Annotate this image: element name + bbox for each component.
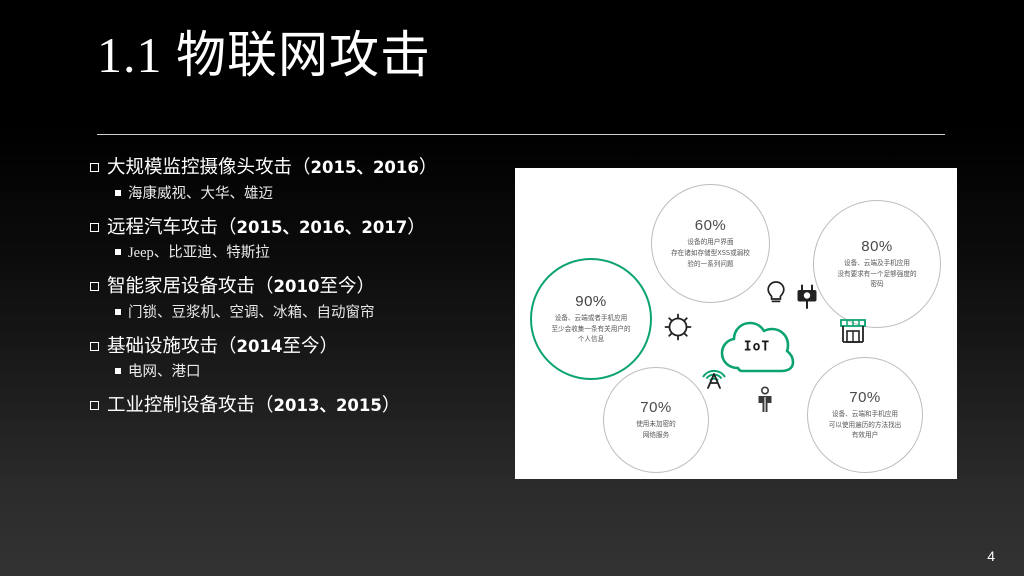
- desc-line: 设备、云端或者手机应用: [551, 313, 630, 324]
- cloud-icon: IoT: [718, 318, 796, 376]
- cloud-label: IoT: [718, 340, 796, 355]
- sub-bullet-item-3-text: 门锁、豆浆机、空调、冰箱、自动窗帘: [128, 303, 500, 325]
- desc-line: 设备、云端及手机应用: [837, 258, 916, 269]
- bullet-item-4-text: 基础设施攻击（2014至今）: [107, 334, 500, 362]
- stat-bubble-60: 60% 设备的用户界面 存在诸如存储型XSS或弱校 验的一系列问题: [651, 184, 770, 303]
- stat-bubble-90-percent: 90%: [575, 293, 607, 310]
- sub-bullet-item-4-text: 电网、港口: [128, 362, 500, 384]
- bullet-item-3: 智能家居设备攻击（2010至今）: [90, 274, 500, 302]
- bullet-item-3-text: 智能家居设备攻击（2010至今）: [107, 274, 500, 302]
- stat-bubble-70-left-description: 使用未加密的 网络服务: [630, 419, 682, 441]
- filled-square-bullet-icon: [115, 360, 128, 382]
- page-title: 1.1 物联网攻击: [97, 26, 431, 85]
- desc-line: 使用未加密的: [636, 419, 676, 430]
- bullet-list: 大规模监控摄像头攻击（2015、2016） 海康威视、大华、雄迈 远程汽车攻击（…: [90, 155, 500, 430]
- desc-line: 验的一系列问题: [671, 259, 750, 270]
- gear-icon: [663, 312, 693, 347]
- desc-line: 有效用户: [829, 430, 902, 441]
- stat-bubble-70-right: 70% 设备、云端和手机应用 可以使用遍历的方法找出 有效用户: [807, 357, 923, 473]
- stat-bubble-60-percent: 60%: [695, 217, 727, 234]
- hollow-square-bullet-icon: [90, 219, 107, 239]
- signal-tower-icon: [700, 363, 728, 394]
- sub-bullet-item-4: 电网、港口: [115, 362, 500, 384]
- sub-bullet-item-1-text: 海康威视、大华、雄迈: [128, 184, 500, 206]
- desc-line: 密码: [837, 279, 916, 290]
- desc-line: 设备的用户界面: [671, 237, 750, 248]
- hollow-square-bullet-icon: [90, 278, 107, 298]
- title-divider: [97, 134, 945, 135]
- stat-bubble-70-right-percent: 70%: [849, 389, 881, 406]
- bullet-item-1: 大规模监控摄像头攻击（2015、2016）: [90, 155, 500, 183]
- sub-bullet-item-2-text: Jeep、比亚迪、特斯拉: [128, 243, 500, 265]
- bullet-block: 基础设施攻击（2014至今） 电网、港口: [90, 334, 500, 385]
- storefront-icon: [839, 318, 867, 349]
- desc-line: 没有要求有一个足够强度的: [837, 269, 916, 280]
- sub-bullet-item-3: 门锁、豆浆机、空调、冰箱、自动窗帘: [115, 303, 500, 325]
- stat-bubble-60-description: 设备的用户界面 存在诸如存储型XSS或弱校 验的一系列问题: [665, 237, 756, 270]
- hollow-square-bullet-icon: [90, 159, 107, 179]
- bullet-item-4: 基础设施攻击（2014至今）: [90, 334, 500, 362]
- person-icon: [755, 386, 775, 419]
- filled-square-bullet-icon: [115, 182, 128, 204]
- page-number: 4: [987, 548, 995, 564]
- stat-bubble-80: 80% 设备、云端及手机应用 没有要求有一个足够强度的 密码: [813, 200, 941, 328]
- sub-bullet-item-2: Jeep、比亚迪、特斯拉: [115, 243, 500, 265]
- desc-line: 至少会收集一条有关用户的: [551, 324, 630, 335]
- stat-bubble-80-description: 设备、云端及手机应用 没有要求有一个足够强度的 密码: [831, 258, 922, 291]
- stat-bubble-80-percent: 80%: [861, 238, 893, 255]
- hollow-square-bullet-icon: [90, 397, 107, 417]
- bullet-item-5: 工业控制设备攻击（2013、2015）: [90, 393, 500, 421]
- stat-bubble-70-left: 70% 使用未加密的 网络服务: [603, 367, 709, 473]
- bullet-block: 大规模监控摄像头攻击（2015、2016） 海康威视、大华、雄迈: [90, 155, 500, 206]
- slide-canvas: 1.1 物联网攻击 大规模监控摄像头攻击（2015、2016） 海康威视、大华、…: [0, 0, 1024, 576]
- hollow-square-bullet-icon: [90, 338, 107, 358]
- stat-bubble-90: 90% 设备、云端或者手机应用 至少会收集一条有关用户的 个人信息: [530, 258, 652, 380]
- filled-square-bullet-icon: [115, 241, 128, 263]
- lightbulb-icon: [766, 280, 786, 311]
- iot-statistics-infographic: 90% 设备、云端或者手机应用 至少会收集一条有关用户的 个人信息 60% 设备…: [515, 168, 957, 479]
- desc-line: 存在诸如存储型XSS或弱校: [671, 248, 750, 259]
- bullet-block: 智能家居设备攻击（2010至今） 门锁、豆浆机、空调、冰箱、自动窗帘: [90, 274, 500, 325]
- bullet-item-2: 远程汽车攻击（2015、2016、2017）: [90, 215, 500, 243]
- desc-line: 可以使用遍历的方法找出: [829, 420, 902, 431]
- stat-bubble-70-right-description: 设备、云端和手机应用 可以使用遍历的方法找出 有效用户: [823, 409, 908, 442]
- bullet-item-2-text: 远程汽车攻击（2015、2016、2017）: [107, 215, 500, 243]
- bullet-block: 远程汽车攻击（2015、2016、2017） Jeep、比亚迪、特斯拉: [90, 215, 500, 266]
- stat-bubble-70-left-percent: 70%: [640, 399, 672, 416]
- stat-bubble-90-description: 设备、云端或者手机应用 至少会收集一条有关用户的 个人信息: [545, 313, 636, 346]
- desc-line: 个人信息: [551, 334, 630, 345]
- bullet-block: 工业控制设备攻击（2013、2015）: [90, 393, 500, 421]
- desc-line: 网络服务: [636, 430, 676, 441]
- sub-bullet-item-1: 海康威视、大华、雄迈: [115, 184, 500, 206]
- bullet-item-1-text: 大规模监控摄像头攻击（2015、2016）: [107, 155, 500, 183]
- power-plug-icon: [795, 284, 819, 315]
- bullet-item-5-text: 工业控制设备攻击（2013、2015）: [107, 393, 500, 421]
- filled-square-bullet-icon: [115, 301, 128, 323]
- desc-line: 设备、云端和手机应用: [829, 409, 902, 420]
